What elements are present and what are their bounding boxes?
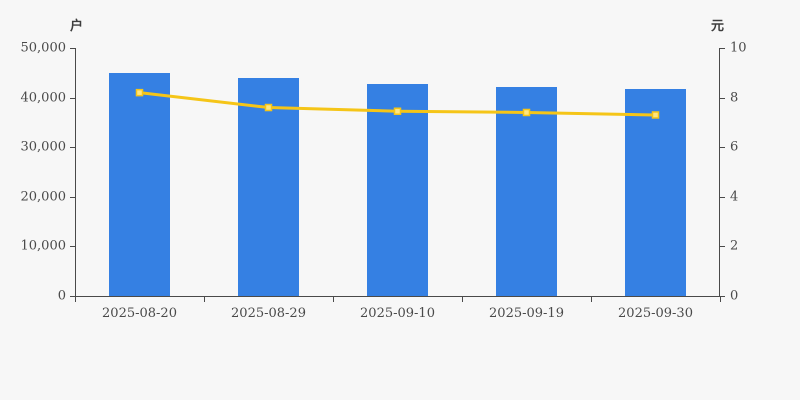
right-tick-mark [720,197,725,198]
x-tick-mark [591,297,592,302]
left-axis-unit-label: 户 [70,15,83,34]
line-marker[interactable]: 2025-08-20: 8.2 [137,90,143,96]
left-tick-label: 30,000 [21,141,67,154]
right-tick-mark [720,48,725,49]
right-tick-label: 6 [730,141,738,154]
right-tick-mark [720,147,725,148]
left-tick-label: 10,000 [21,240,67,253]
x-tick-mark [462,297,463,302]
line-marker[interactable]: 2025-09-10: 7.45 [395,108,401,114]
x-tick-label: 2025-09-19 [489,306,564,321]
right-tick-mark [720,98,725,99]
x-tick-label: 2025-09-30 [618,306,693,321]
chart-container: 户 元 010,00020,00030,00040,00050,000 0246… [0,0,800,400]
left-tick-label: 50,000 [21,42,67,55]
x-tick-mark [720,297,721,302]
left-tick-label: 40,000 [21,91,67,104]
line-marker[interactable]: 2025-08-29: 7.6 [266,105,272,111]
right-tick-label: 4 [730,190,738,203]
x-tick-label: 2025-08-20 [102,306,177,321]
x-tick-mark [204,297,205,302]
right-axis-unit-label: 元 [711,15,724,34]
plot-area: 010,00020,00030,00040,00050,000 0246810 … [75,48,720,296]
left-tick-label: 0 [58,290,66,303]
x-tick-mark [75,297,76,302]
line-marker[interactable]: 2025-09-19: 7.4 [524,109,530,115]
right-tick-label: 0 [730,290,738,303]
line-marker[interactable]: 2025-09-30: 7.3 [653,112,659,118]
x-tick-label: 2025-08-29 [231,306,306,321]
right-tick-label: 8 [730,91,738,104]
right-tick-mark [720,246,725,247]
line-series: 2025-08-20: 8.22025-08-29: 7.62025-09-10… [75,48,720,297]
x-tick-mark [333,297,334,302]
x-tick-label: 2025-09-10 [360,306,435,321]
right-tick-label: 10 [730,42,747,55]
right-tick-label: 2 [730,240,738,253]
left-tick-label: 20,000 [21,190,67,203]
